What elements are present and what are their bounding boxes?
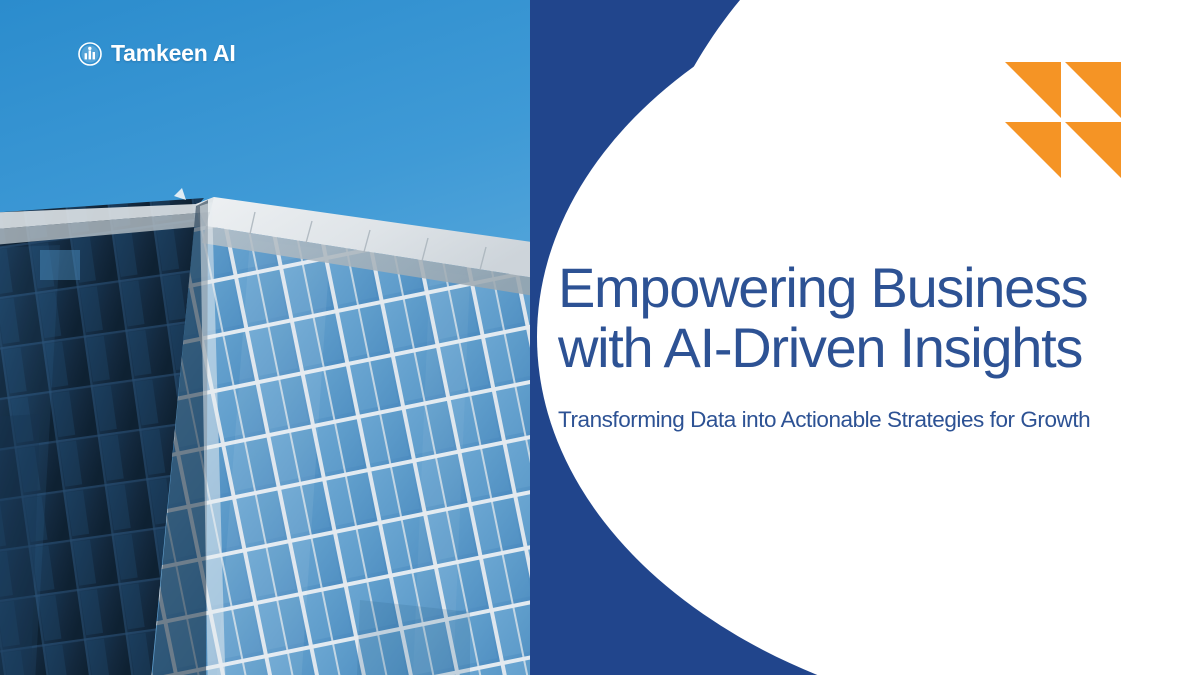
brand-name: Tamkeen AI <box>111 40 236 67</box>
page-subtitle: Transforming Data into Actionable Strate… <box>558 405 1168 434</box>
presentation-slide: Tamkeen AI Empowering Business with AI-D… <box>0 0 1200 675</box>
brand-lockup: Tamkeen AI <box>78 40 236 67</box>
building-photo-illustration <box>0 0 530 675</box>
slide-content: Empowering Business with AI-Driven Insig… <box>558 0 1178 675</box>
headline-block: Empowering Business with AI-Driven Insig… <box>558 258 1168 434</box>
pinwheel-triangles-logo-icon <box>1005 62 1121 178</box>
circular-chart-logo-icon <box>78 42 102 66</box>
hero-photo: Tamkeen AI <box>0 0 530 675</box>
page-title: Empowering Business with AI-Driven Insig… <box>558 258 1168 378</box>
